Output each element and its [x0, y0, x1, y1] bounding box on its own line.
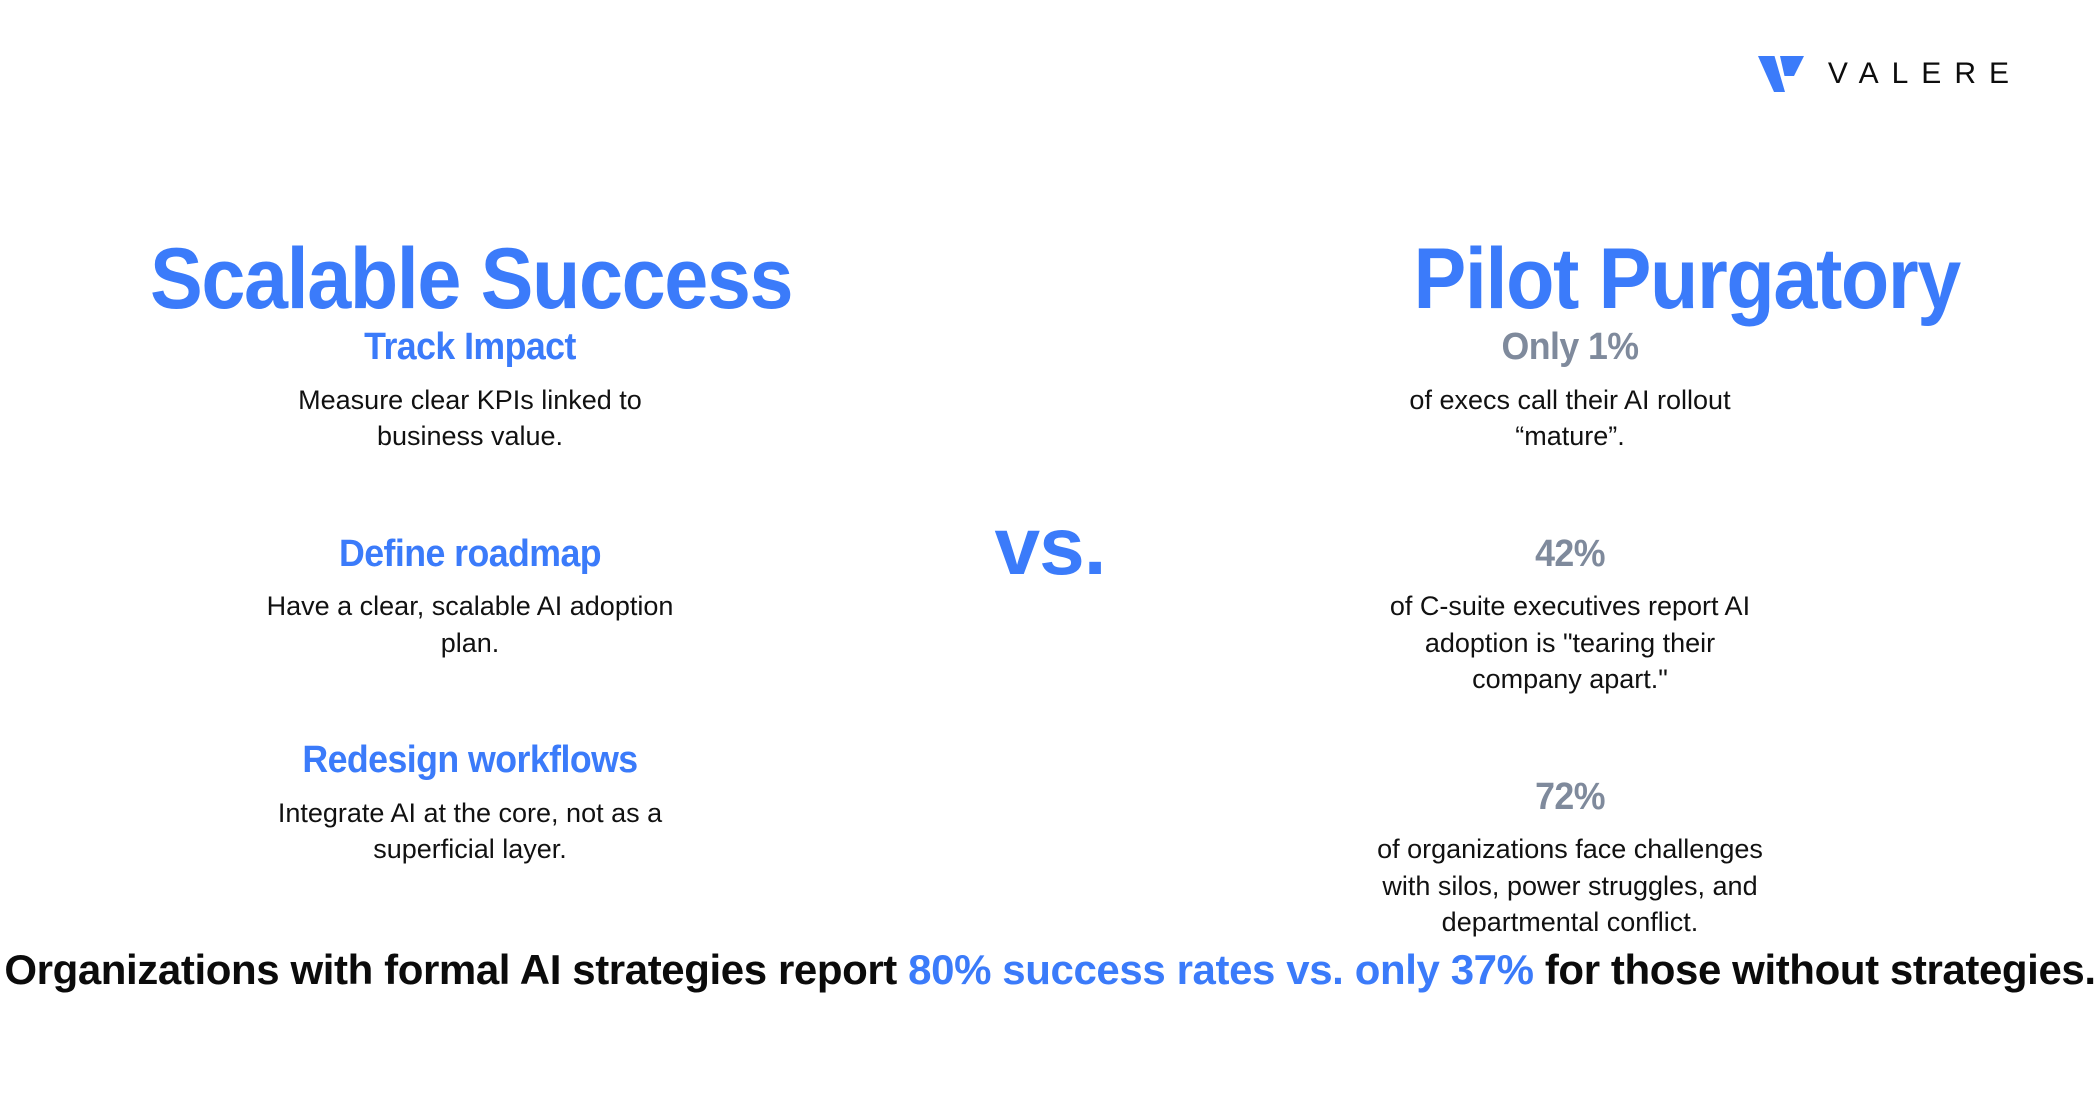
- valere-v-logo-icon: [1758, 52, 1806, 96]
- list-item: Track Impact Measure clear KPIs linked t…: [160, 326, 780, 455]
- item-title: Only 1%: [1279, 326, 1862, 370]
- footer-trail: for those without strategies.: [1534, 946, 2096, 993]
- item-body: of C-suite executives report AI adoption…: [1370, 588, 1770, 697]
- item-title: Redesign workflows: [179, 739, 762, 783]
- item-body: of execs call their AI rollout “mature”.: [1370, 382, 1770, 455]
- list-item: 72% of organizations face challenges wit…: [1260, 776, 1880, 941]
- list-item: Define roadmap Have a clear, scalable AI…: [160, 533, 780, 662]
- comparison-columns: Track Impact Measure clear KPIs linked t…: [0, 326, 2100, 941]
- item-body: Have a clear, scalable AI adoption plan.: [255, 588, 685, 661]
- slide-root: VALERE Scalable Success Pilot Purgatory …: [0, 0, 2100, 1099]
- item-title: Track Impact: [179, 326, 762, 370]
- list-item: Only 1% of execs call their AI rollout “…: [1260, 326, 1880, 455]
- footer-highlight: 80% success rates vs. only 37%: [908, 946, 1533, 993]
- item-body: of organizations face challenges with si…: [1360, 831, 1780, 940]
- scalable-success-column: Track Impact Measure clear KPIs linked t…: [160, 326, 780, 941]
- left-column-heading: Scalable Success: [150, 236, 792, 322]
- item-body: Measure clear KPIs linked to business va…: [270, 382, 670, 455]
- item-title: 42%: [1279, 533, 1862, 577]
- item-title: 72%: [1279, 776, 1862, 820]
- brand-lockup: VALERE: [1758, 52, 2022, 96]
- footer-statement: Organizations with formal AI strategies …: [0, 945, 2100, 995]
- list-item: 42% of C-suite executives report AI adop…: [1260, 533, 1880, 698]
- item-title: Define roadmap: [179, 533, 762, 577]
- pilot-purgatory-column: Only 1% of execs call their AI rollout “…: [1260, 326, 1880, 941]
- brand-wordmark: VALERE: [1828, 59, 2022, 89]
- item-body: Integrate AI at the core, not as a super…: [255, 795, 685, 868]
- right-column-heading: Pilot Purgatory: [1414, 236, 1960, 322]
- footer-lead: Organizations with formal AI strategies …: [4, 946, 908, 993]
- list-item: Redesign workflows Integrate AI at the c…: [160, 739, 780, 868]
